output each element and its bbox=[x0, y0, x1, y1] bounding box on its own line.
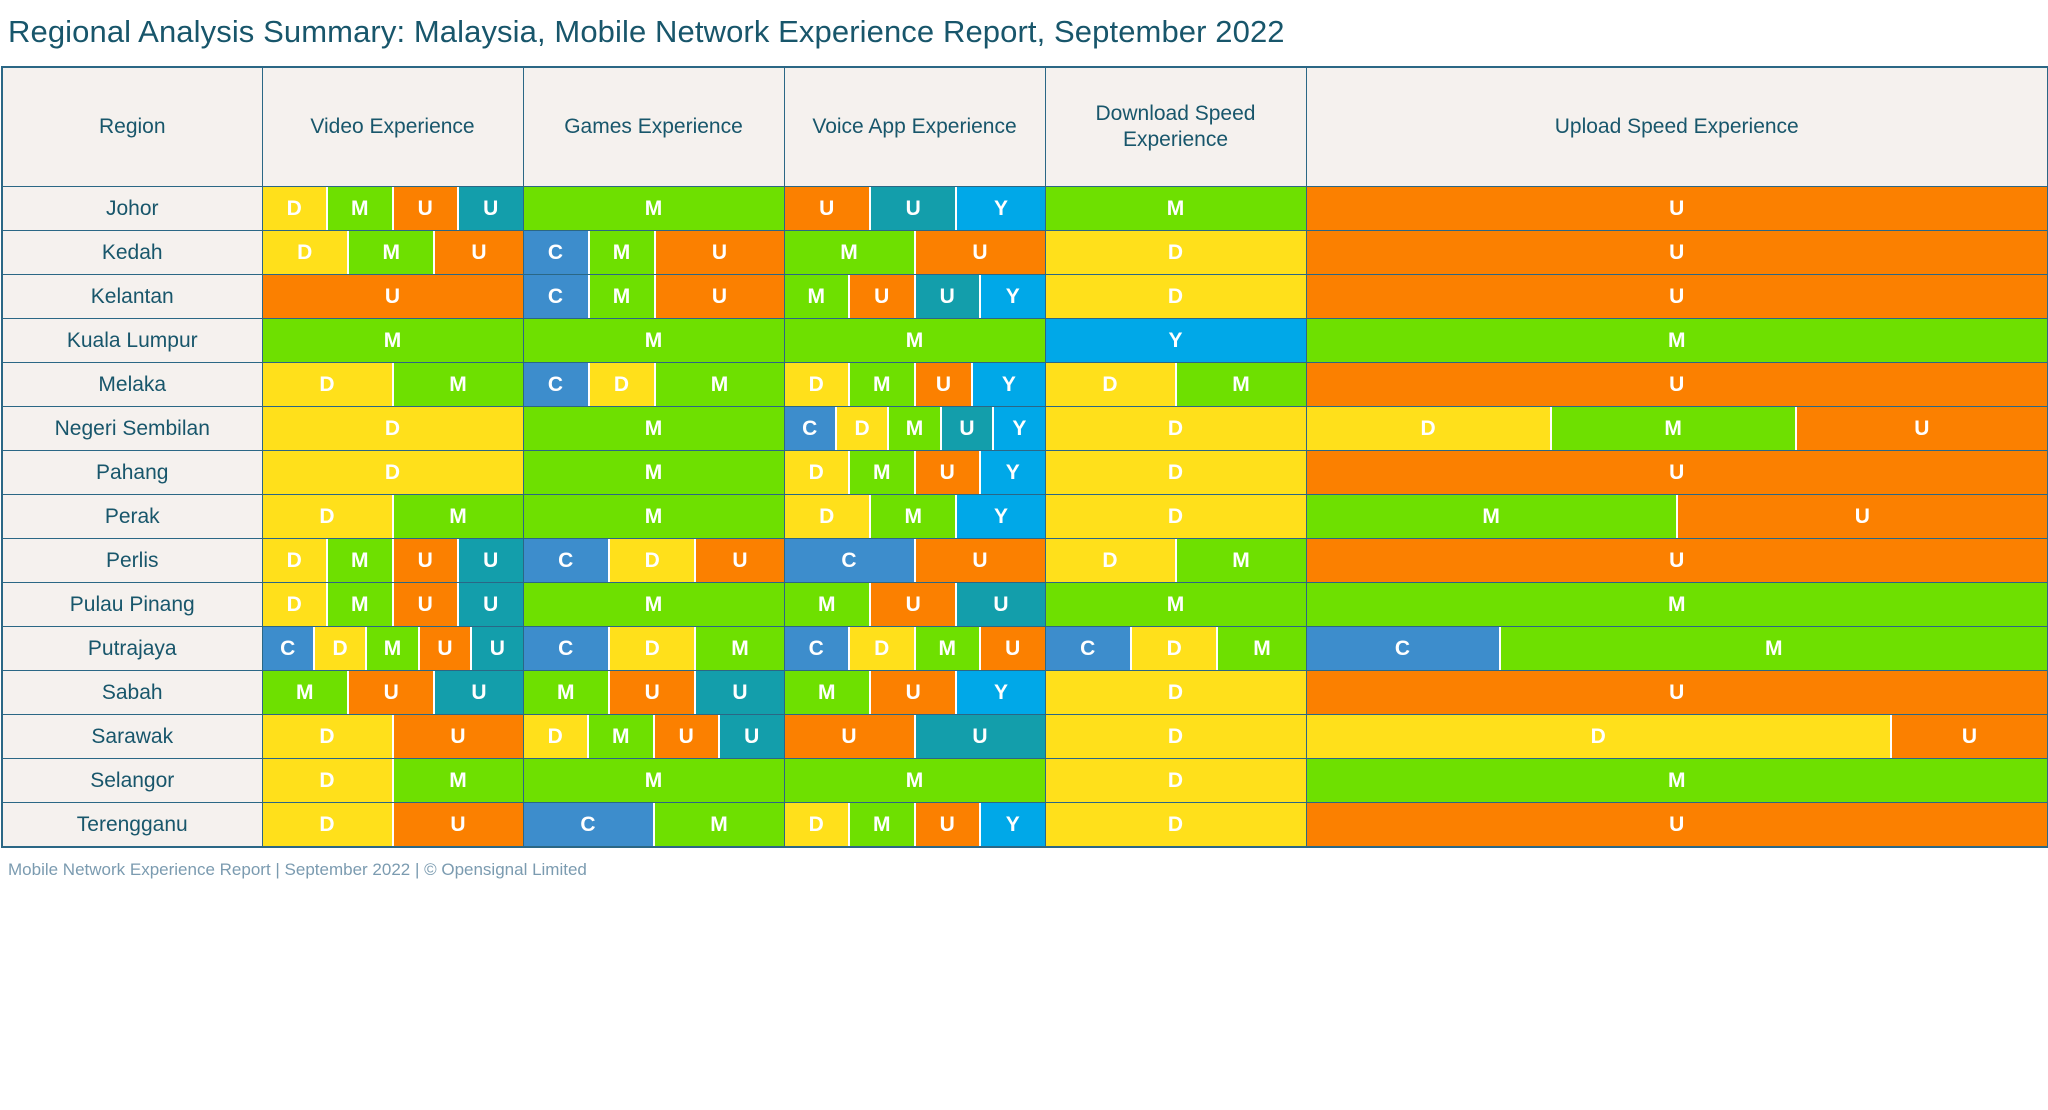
bar-segment: U bbox=[1678, 495, 2047, 538]
bar-segment: M bbox=[1046, 187, 1306, 230]
bar-cell-voice: DMUY bbox=[784, 803, 1045, 848]
bar-segment: M bbox=[263, 671, 349, 714]
stacked-bar: CDU bbox=[524, 539, 784, 582]
bar-segment: M bbox=[889, 407, 941, 450]
bar-cell-upload: DMU bbox=[1306, 407, 2048, 451]
bar-segment: C bbox=[1307, 627, 1501, 670]
bar-segment: U bbox=[981, 627, 1045, 670]
header-row: Region Video Experience Games Experience… bbox=[2, 67, 2048, 187]
stacked-bar: DU bbox=[263, 803, 523, 846]
stacked-bar: MU bbox=[785, 231, 1045, 274]
stacked-bar: DU bbox=[1307, 715, 2048, 758]
bar-segment: U bbox=[1307, 539, 2048, 582]
stacked-bar: M bbox=[524, 451, 784, 494]
region-label: Terengganu bbox=[2, 803, 262, 848]
bar-cell-download: DM bbox=[1045, 363, 1306, 407]
stacked-bar: D bbox=[1046, 495, 1306, 538]
bar-cell-download: D bbox=[1045, 715, 1306, 759]
bar-cell-games: M bbox=[523, 583, 784, 627]
stacked-bar: DMU bbox=[263, 231, 523, 274]
bar-segment: Y bbox=[1046, 319, 1306, 362]
bar-segment: D bbox=[1046, 759, 1306, 802]
bar-segment: M bbox=[1307, 583, 2048, 626]
region-label: Kedah bbox=[2, 231, 262, 275]
bar-segment: M bbox=[916, 627, 982, 670]
bar-segment: C bbox=[785, 407, 837, 450]
stacked-bar: DM bbox=[1046, 539, 1306, 582]
bar-segment: U bbox=[696, 539, 783, 582]
bar-segment: M bbox=[524, 759, 784, 802]
bar-cell-video: MUU bbox=[262, 671, 523, 715]
bar-cell-upload: U bbox=[1306, 803, 2048, 848]
bar-segment: Y bbox=[957, 495, 1044, 538]
stacked-bar: Y bbox=[1046, 319, 1306, 362]
region-label: Sabah bbox=[2, 671, 262, 715]
stacked-bar: DU bbox=[263, 715, 523, 758]
bar-segment: U bbox=[1307, 803, 2048, 846]
bar-segment: D bbox=[837, 407, 889, 450]
bar-cell-video: DM bbox=[262, 363, 523, 407]
bar-segment: Y bbox=[973, 363, 1044, 406]
stacked-bar: MU bbox=[1307, 495, 2048, 538]
bar-cell-upload: M bbox=[1306, 759, 2048, 803]
bar-segment: D bbox=[263, 715, 394, 758]
stacked-bar: CDMU bbox=[785, 627, 1045, 670]
stacked-bar: DM bbox=[263, 759, 523, 802]
stacked-bar: CMU bbox=[524, 275, 784, 318]
bar-cell-voice: MUUY bbox=[784, 275, 1045, 319]
bar-segment: D bbox=[1132, 627, 1218, 670]
stacked-bar: M bbox=[524, 407, 784, 450]
stacked-bar: U bbox=[1307, 187, 2048, 230]
bar-segment: C bbox=[524, 627, 610, 670]
bar-segment: D bbox=[524, 715, 590, 758]
bar-segment: D bbox=[1307, 715, 1892, 758]
bar-segment: M bbox=[871, 495, 957, 538]
bar-segment: U bbox=[916, 275, 982, 318]
bar-segment: M bbox=[590, 231, 656, 274]
bar-segment: D bbox=[610, 539, 696, 582]
region-label: Perak bbox=[2, 495, 262, 539]
bar-segment: D bbox=[785, 803, 851, 846]
stacked-bar: DMUY bbox=[785, 363, 1045, 406]
bar-cell-video: DM bbox=[262, 495, 523, 539]
bar-segment: U bbox=[1892, 715, 2047, 758]
stacked-bar: DMUU bbox=[263, 583, 523, 626]
bar-segment: U bbox=[349, 671, 435, 714]
bar-segment: D bbox=[1046, 407, 1306, 450]
bar-segment: U bbox=[394, 715, 523, 758]
bar-segment: U bbox=[1307, 187, 2048, 230]
region-label: Pulau Pinang bbox=[2, 583, 262, 627]
bar-cell-download: D bbox=[1045, 495, 1306, 539]
stacked-bar: CU bbox=[785, 539, 1045, 582]
bar-cell-download: M bbox=[1045, 187, 1306, 231]
column-header-upload: Upload Speed Experience bbox=[1306, 67, 2048, 187]
bar-segment: M bbox=[524, 407, 784, 450]
bar-segment: U bbox=[785, 187, 871, 230]
bar-cell-upload: U bbox=[1306, 275, 2048, 319]
stacked-bar: CDMUU bbox=[263, 627, 523, 670]
bar-segment: M bbox=[328, 539, 394, 582]
stacked-bar: D bbox=[1046, 231, 1306, 274]
table-row: KelantanUCMUMUUYDU bbox=[2, 275, 2048, 319]
bar-cell-video: DMU bbox=[262, 231, 523, 275]
stacked-bar: M bbox=[1307, 319, 2048, 362]
bar-segment: Y bbox=[981, 803, 1045, 846]
stacked-bar: CDM bbox=[524, 627, 784, 670]
bar-cell-voice: MU bbox=[784, 231, 1045, 275]
bar-segment: U bbox=[394, 187, 460, 230]
bar-segment: Y bbox=[957, 187, 1044, 230]
bar-cell-voice: MUY bbox=[784, 671, 1045, 715]
stacked-bar: D bbox=[263, 407, 523, 450]
regional-analysis-table: Region Video Experience Games Experience… bbox=[1, 66, 2048, 848]
bar-segment: M bbox=[696, 627, 783, 670]
bar-segment: U bbox=[1307, 671, 2048, 714]
bar-segment: M bbox=[589, 715, 655, 758]
bar-cell-games: M bbox=[523, 759, 784, 803]
bar-segment: M bbox=[524, 187, 784, 230]
bar-segment: D bbox=[263, 495, 394, 538]
bar-segment: M bbox=[394, 759, 523, 802]
bar-segment: D bbox=[590, 363, 656, 406]
stacked-bar: M bbox=[1307, 759, 2048, 802]
bar-segment: D bbox=[850, 627, 916, 670]
bar-segment: U bbox=[696, 671, 783, 714]
bar-segment: D bbox=[785, 363, 851, 406]
bar-segment: D bbox=[263, 451, 523, 494]
bar-segment: U bbox=[1307, 231, 2048, 274]
bar-cell-upload: M bbox=[1306, 319, 2048, 363]
table-row: MelakaDMCDMDMUYDMU bbox=[2, 363, 2048, 407]
bar-segment: M bbox=[524, 319, 784, 362]
column-header-region: Region bbox=[2, 67, 262, 187]
bar-segment: C bbox=[1046, 627, 1132, 670]
bar-segment: U bbox=[394, 539, 460, 582]
stacked-bar: M bbox=[524, 495, 784, 538]
stacked-bar: U bbox=[1307, 671, 2048, 714]
bar-segment: M bbox=[524, 495, 784, 538]
table-row: SabahMUUMUUMUYDU bbox=[2, 671, 2048, 715]
bar-cell-voice: M bbox=[784, 319, 1045, 363]
stacked-bar: CMU bbox=[524, 231, 784, 274]
bar-segment: M bbox=[1218, 627, 1305, 670]
bar-segment: U bbox=[656, 275, 784, 318]
bar-segment: U bbox=[916, 231, 1045, 274]
column-header-video: Video Experience bbox=[262, 67, 523, 187]
bar-segment: U bbox=[420, 627, 472, 670]
table-row: TerengganuDUCMDMUYDU bbox=[2, 803, 2048, 848]
bar-cell-games: CMU bbox=[523, 275, 784, 319]
bar-segment: M bbox=[1046, 583, 1306, 626]
stacked-bar: D bbox=[1046, 275, 1306, 318]
bar-cell-upload: CM bbox=[1306, 627, 2048, 671]
stacked-bar: D bbox=[1046, 715, 1306, 758]
stacked-bar: DMY bbox=[785, 495, 1045, 538]
bar-segment: U bbox=[656, 231, 784, 274]
bar-segment: C bbox=[785, 627, 851, 670]
stacked-bar: U bbox=[1307, 231, 2048, 274]
stacked-bar: CDM bbox=[1046, 627, 1306, 670]
bar-cell-upload: U bbox=[1306, 231, 2048, 275]
bar-cell-games: DMUU bbox=[523, 715, 784, 759]
bar-segment: M bbox=[394, 495, 523, 538]
region-label: Pahang bbox=[2, 451, 262, 495]
stacked-bar: D bbox=[1046, 671, 1306, 714]
table-row: Kuala LumpurMMMYM bbox=[2, 319, 2048, 363]
region-label: Kelantan bbox=[2, 275, 262, 319]
bar-cell-download: D bbox=[1045, 231, 1306, 275]
bar-cell-games: MUU bbox=[523, 671, 784, 715]
bar-cell-upload: U bbox=[1306, 187, 2048, 231]
bar-segment: D bbox=[263, 539, 329, 582]
stacked-bar: M bbox=[1046, 187, 1306, 230]
stacked-bar: M bbox=[785, 759, 1045, 802]
bar-segment: M bbox=[590, 275, 656, 318]
stacked-bar: MUY bbox=[785, 671, 1045, 714]
bar-segment: D bbox=[263, 363, 394, 406]
stacked-bar: U bbox=[1307, 539, 2048, 582]
region-label: Perlis bbox=[2, 539, 262, 583]
stacked-bar: UU bbox=[785, 715, 1045, 758]
bar-segment: D bbox=[1046, 275, 1306, 318]
stacked-bar: D bbox=[1046, 451, 1306, 494]
bar-segment: U bbox=[459, 539, 523, 582]
bar-segment: M bbox=[328, 583, 394, 626]
column-header-games: Games Experience bbox=[523, 67, 784, 187]
bar-segment: U bbox=[871, 583, 957, 626]
stacked-bar: M bbox=[785, 319, 1045, 362]
stacked-bar: CM bbox=[1307, 627, 2048, 670]
bar-cell-download: CDM bbox=[1045, 627, 1306, 671]
bar-segment: U bbox=[916, 539, 1045, 582]
bar-cell-video: CDMUU bbox=[262, 627, 523, 671]
bar-cell-voice: DMY bbox=[784, 495, 1045, 539]
region-label: Melaka bbox=[2, 363, 262, 407]
stacked-bar: DM bbox=[1046, 363, 1306, 406]
bar-segment: U bbox=[871, 671, 957, 714]
stacked-bar: M bbox=[524, 319, 784, 362]
stacked-bar: M bbox=[524, 583, 784, 626]
bar-segment: M bbox=[328, 187, 394, 230]
bar-segment: D bbox=[1046, 715, 1306, 758]
bar-cell-voice: CDMU bbox=[784, 627, 1045, 671]
bar-segment: M bbox=[850, 363, 916, 406]
table-row: SelangorDMMMDM bbox=[2, 759, 2048, 803]
bar-segment: U bbox=[655, 715, 721, 758]
stacked-bar: CDM bbox=[524, 363, 784, 406]
bar-segment: U bbox=[942, 407, 994, 450]
stacked-bar: U bbox=[1307, 803, 2048, 846]
bar-cell-upload: U bbox=[1306, 671, 2048, 715]
bar-cell-upload: MU bbox=[1306, 495, 2048, 539]
stacked-bar: U bbox=[1307, 451, 2048, 494]
bar-cell-voice: DMUY bbox=[784, 451, 1045, 495]
bar-segment: C bbox=[263, 627, 315, 670]
bar-segment: D bbox=[315, 627, 367, 670]
stacked-bar: D bbox=[1046, 803, 1306, 846]
bar-cell-games: CDU bbox=[523, 539, 784, 583]
bar-segment: D bbox=[785, 495, 871, 538]
bar-segment: D bbox=[1046, 451, 1306, 494]
bar-segment: D bbox=[1046, 231, 1306, 274]
bar-cell-video: DU bbox=[262, 715, 523, 759]
stacked-bar: MUU bbox=[263, 671, 523, 714]
bar-segment: U bbox=[394, 803, 523, 846]
bar-cell-download: D bbox=[1045, 451, 1306, 495]
stacked-bar: M bbox=[1046, 583, 1306, 626]
table-row: Pulau PinangDMUUMMUUMM bbox=[2, 583, 2048, 627]
table-row: PerakDMMDMYDMU bbox=[2, 495, 2048, 539]
bar-segment: Y bbox=[981, 275, 1045, 318]
bar-cell-voice: UU bbox=[784, 715, 1045, 759]
bar-segment: C bbox=[524, 363, 590, 406]
stacked-bar: MUU bbox=[785, 583, 1045, 626]
bar-segment: D bbox=[1046, 803, 1306, 846]
bar-cell-games: M bbox=[523, 451, 784, 495]
bar-cell-voice: CU bbox=[784, 539, 1045, 583]
stacked-bar: D bbox=[263, 451, 523, 494]
bar-segment: U bbox=[263, 275, 523, 318]
bar-cell-video: DM bbox=[262, 759, 523, 803]
bar-segment: Y bbox=[957, 671, 1044, 714]
bar-segment: U bbox=[916, 363, 974, 406]
bar-cell-games: M bbox=[523, 187, 784, 231]
bar-segment: U bbox=[435, 231, 522, 274]
bar-segment: D bbox=[263, 231, 349, 274]
table-row: Negeri SembilanDMCDMUYDDMU bbox=[2, 407, 2048, 451]
table-row: PutrajayaCDMUUCDMCDMUCDMCM bbox=[2, 627, 2048, 671]
bar-segment: U bbox=[394, 583, 460, 626]
bar-segment: M bbox=[785, 583, 871, 626]
stacked-bar: DMUU bbox=[524, 715, 784, 758]
bar-segment: M bbox=[1307, 319, 2048, 362]
region-label: Negeri Sembilan bbox=[2, 407, 262, 451]
bar-segment: C bbox=[524, 231, 590, 274]
bar-cell-voice: CDMUY bbox=[784, 407, 1045, 451]
page-title: Regional Analysis Summary: Malaysia, Mob… bbox=[0, 0, 2048, 66]
bar-segment: C bbox=[785, 539, 916, 582]
bar-cell-video: D bbox=[262, 451, 523, 495]
bar-segment: U bbox=[871, 187, 957, 230]
stacked-bar: DMUU bbox=[263, 539, 523, 582]
bar-cell-download: M bbox=[1045, 583, 1306, 627]
stacked-bar: DMU bbox=[1307, 407, 2048, 450]
column-header-voice: Voice App Experience bbox=[784, 67, 1045, 187]
table-row: PahangDMDMUYDU bbox=[2, 451, 2048, 495]
stacked-bar: D bbox=[1046, 407, 1306, 450]
stacked-bar: DM bbox=[263, 495, 523, 538]
bar-cell-video: DMUU bbox=[262, 583, 523, 627]
stacked-bar: D bbox=[1046, 759, 1306, 802]
bar-segment: M bbox=[850, 803, 916, 846]
bar-segment: U bbox=[916, 451, 982, 494]
stacked-bar: CDMUY bbox=[785, 407, 1045, 450]
bar-segment: U bbox=[459, 583, 523, 626]
region-label: Selangor bbox=[2, 759, 262, 803]
report-page: Regional Analysis Summary: Malaysia, Mob… bbox=[0, 0, 2048, 1110]
bar-cell-games: CM bbox=[523, 803, 784, 848]
bar-segment: Y bbox=[981, 451, 1045, 494]
stacked-bar: MUU bbox=[524, 671, 784, 714]
bar-segment: M bbox=[394, 363, 523, 406]
bar-segment: M bbox=[524, 583, 784, 626]
bar-cell-upload: U bbox=[1306, 539, 2048, 583]
bar-segment: D bbox=[263, 759, 394, 802]
footer-attribution: Mobile Network Experience Report | Septe… bbox=[0, 848, 2048, 880]
table-row: SarawakDUDMUUUUDDU bbox=[2, 715, 2048, 759]
region-label: Kuala Lumpur bbox=[2, 319, 262, 363]
bar-segment: U bbox=[459, 187, 523, 230]
bar-segment: M bbox=[656, 363, 784, 406]
bar-segment: M bbox=[1501, 627, 2047, 670]
bar-segment: U bbox=[1307, 275, 2048, 318]
stacked-bar: M bbox=[263, 319, 523, 362]
bar-cell-voice: M bbox=[784, 759, 1045, 803]
stacked-bar: U bbox=[1307, 275, 2048, 318]
bar-cell-download: D bbox=[1045, 759, 1306, 803]
column-header-download: Download Speed Experience bbox=[1045, 67, 1306, 187]
bar-segment: M bbox=[1307, 759, 2048, 802]
bar-cell-download: D bbox=[1045, 275, 1306, 319]
stacked-bar: DM bbox=[263, 363, 523, 406]
stacked-bar: CM bbox=[524, 803, 784, 846]
bar-segment: M bbox=[785, 759, 1045, 802]
stacked-bar: U bbox=[263, 275, 523, 318]
bar-cell-upload: U bbox=[1306, 451, 2048, 495]
bar-cell-download: DM bbox=[1045, 539, 1306, 583]
bar-segment: D bbox=[785, 451, 851, 494]
bar-segment: D bbox=[1046, 539, 1177, 582]
stacked-bar: M bbox=[524, 759, 784, 802]
stacked-bar: M bbox=[1307, 583, 2048, 626]
bar-cell-video: DU bbox=[262, 803, 523, 848]
bar-cell-video: D bbox=[262, 407, 523, 451]
bar-segment: M bbox=[655, 803, 784, 846]
bar-segment: D bbox=[263, 187, 329, 230]
bar-segment: M bbox=[1177, 363, 1306, 406]
bar-segment: M bbox=[850, 451, 916, 494]
bar-segment: D bbox=[263, 803, 394, 846]
bar-segment: M bbox=[1177, 539, 1306, 582]
table-body: JohorDMUUMUUYMUKedahDMUCMUMUDUKelantanUC… bbox=[2, 187, 2048, 848]
bar-cell-games: M bbox=[523, 495, 784, 539]
bar-cell-voice: DMUY bbox=[784, 363, 1045, 407]
stacked-bar: MUUY bbox=[785, 275, 1045, 318]
bar-segment: U bbox=[916, 715, 1045, 758]
bar-cell-games: CMU bbox=[523, 231, 784, 275]
table-row: JohorDMUUMUUYMU bbox=[2, 187, 2048, 231]
bar-segment: U bbox=[850, 275, 916, 318]
bar-segment: C bbox=[524, 275, 590, 318]
bar-segment: U bbox=[472, 627, 522, 670]
bar-cell-games: CDM bbox=[523, 627, 784, 671]
bar-cell-video: DMUU bbox=[262, 539, 523, 583]
bar-segment: D bbox=[1046, 363, 1177, 406]
bar-segment: D bbox=[1307, 407, 1552, 450]
bar-cell-upload: DU bbox=[1306, 715, 2048, 759]
bar-cell-download: D bbox=[1045, 407, 1306, 451]
bar-segment: U bbox=[610, 671, 696, 714]
bar-segment: U bbox=[720, 715, 784, 758]
bar-segment: M bbox=[349, 231, 435, 274]
bar-cell-games: M bbox=[523, 319, 784, 363]
bar-segment: M bbox=[524, 451, 784, 494]
bar-segment: M bbox=[785, 319, 1045, 362]
bar-cell-video: U bbox=[262, 275, 523, 319]
stacked-bar: DMUU bbox=[263, 187, 523, 230]
